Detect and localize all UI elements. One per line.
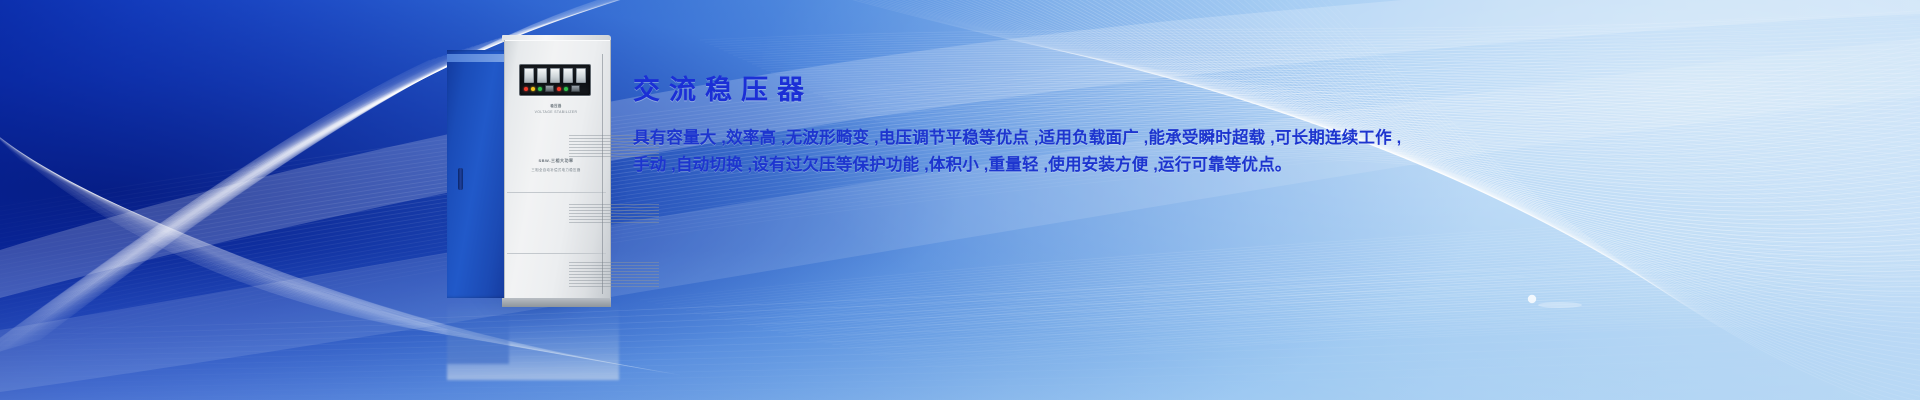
cabinet-panel-seam xyxy=(507,192,606,193)
product-image-voltage-stabilizer: 稳压器 VOLTAGE STABILIZER SBW-三相大功率 三相全自动补偿… xyxy=(447,40,619,302)
cabinet-vent-grille xyxy=(569,204,659,224)
meter-row xyxy=(524,68,586,83)
indicator-lamp-red xyxy=(557,87,561,91)
cabinet-panel-seam xyxy=(507,253,606,254)
banner-copy-block: 交流稳压器 具有容量大 ,效率高 ,无波形畸变 ,电压调节平稳等优点 ,适用负载… xyxy=(633,76,1423,179)
product-floor-reflection xyxy=(447,302,619,380)
indicator-lamp-red xyxy=(524,87,528,91)
indicator-lamp-green xyxy=(564,87,568,91)
product-banner: 稳压器 VOLTAGE STABILIZER SBW-三相大功率 三相全自动补偿… xyxy=(0,0,1920,400)
panel-switch xyxy=(571,85,580,92)
cabinet-brand-line-2: VOLTAGE STABILIZER xyxy=(521,110,591,114)
panel-switch xyxy=(545,85,554,92)
indicator-lamp-yellow xyxy=(531,87,535,91)
banner-title: 交流稳压器 xyxy=(633,76,1423,106)
meter-gauge xyxy=(524,68,534,83)
cabinet-vent-grille xyxy=(569,262,659,288)
banner-description: 具有容量大 ,效率高 ,无波形畸变 ,电压调节平稳等优点 ,适用负载面广 ,能承… xyxy=(633,125,1408,179)
meter-gauge xyxy=(537,68,547,83)
cabinet-side-top-edge xyxy=(447,54,509,62)
meter-gauge xyxy=(563,68,573,83)
cabinet-model-line-2: 三相全自动补偿式电力稳压器 xyxy=(521,167,591,172)
cabinet-brand-line-1: 稳压器 xyxy=(521,103,591,108)
cabinet-front-face: 稳压器 VOLTAGE STABILIZER SBW-三相大功率 三相全自动补偿… xyxy=(504,40,611,302)
cabinet-side-panel xyxy=(447,50,509,298)
meter-gauge xyxy=(576,68,586,83)
indicator-lamp-green xyxy=(538,87,542,91)
meter-gauge xyxy=(550,68,560,83)
background-bottom-fade xyxy=(0,250,1920,400)
cabinet-model-line-1: SBW-三相大功率 xyxy=(521,158,591,164)
reflection-side-panel xyxy=(447,302,509,364)
cabinet-edge-line xyxy=(602,54,603,294)
control-panel xyxy=(519,64,591,96)
indicator-light-row xyxy=(524,85,586,92)
cabinet-door-handle xyxy=(458,168,463,190)
